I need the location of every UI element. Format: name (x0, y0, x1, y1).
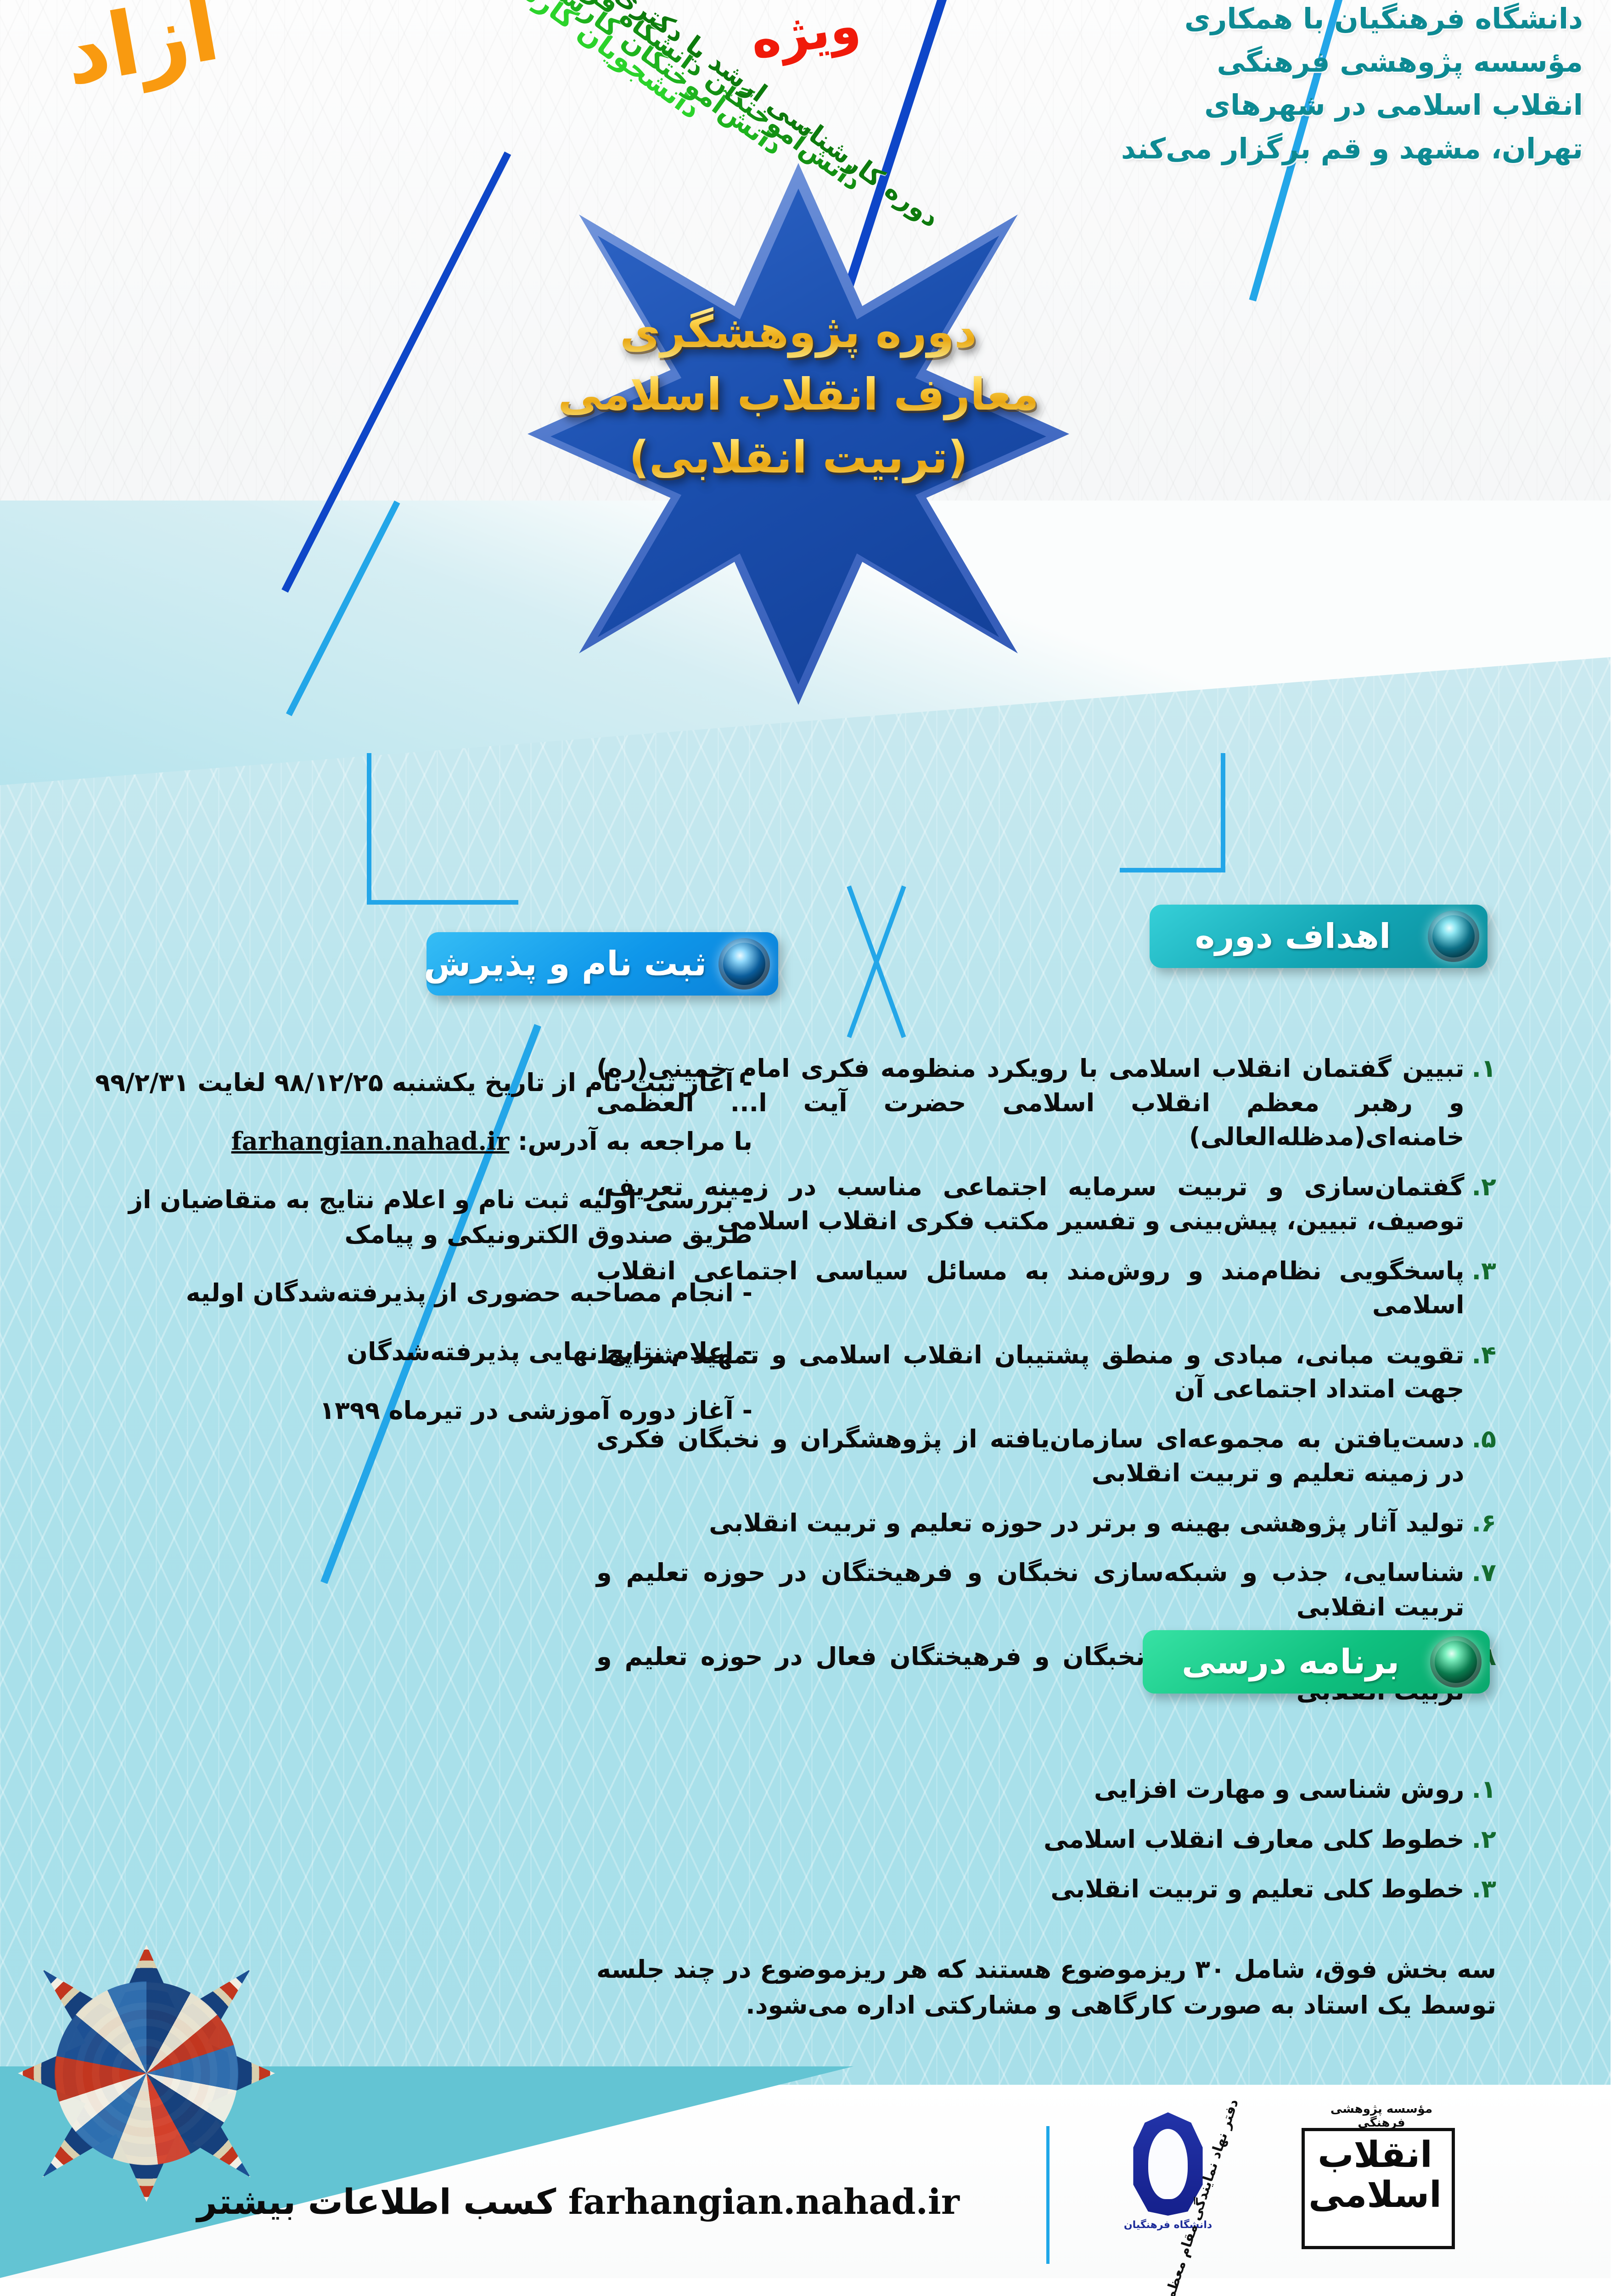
registration-url[interactable]: farhangian.nahad.ir (232, 1124, 510, 1159)
registration-item-2: با مراجعه به آدرس: farhangian.nahad.ir (55, 1124, 753, 1159)
course-title-line-2: معارف انقلاب اسلامی (556, 363, 1042, 426)
signup-knob-icon (719, 938, 770, 990)
ribbon-bracket-right-vertical (1221, 753, 1226, 872)
objectives-badge[interactable]: اهداف دوره (1150, 905, 1488, 968)
curriculum-number: ۱. (1472, 1773, 1497, 1807)
target-knob-icon (1428, 911, 1480, 962)
curriculum-text: روش شناسی و مهارت افزایی (1095, 1773, 1465, 1807)
course-title-line-3: (تربیت انقلابی) (556, 426, 1042, 489)
registration-item-3: - بررسی اولیه ثبت نام و اعلام نتایج به م… (55, 1182, 753, 1252)
registration-list: - آغاز ثبت نام از تاریخ یکشنبه ۹۸/۱۲/۲۵ … (55, 1065, 753, 1452)
institute-logo-top-caption: مؤسسه پژوهشی فرهنگی (1308, 2102, 1455, 2130)
curriculum-text: خطوط کلی تعلیم و تربیت انقلابی (1051, 1872, 1465, 1907)
registration-item-1: - آغاز ثبت نام از تاریخ یکشنبه ۹۸/۱۲/۲۵ … (55, 1065, 753, 1100)
curriculum-item-1: ۱. روش شناسی و مهارت افزایی (597, 1773, 1497, 1807)
registration-badge[interactable]: ثبت نام و پذیرش (427, 932, 779, 996)
footer-more-label: کسب اطلاعات بیشتر (197, 2181, 556, 2222)
objectives-badge-label: اهداف دوره (1158, 917, 1428, 956)
objective-number: ۳. (1472, 1254, 1497, 1289)
curriculum-number: ۳. (1472, 1872, 1497, 1907)
book-knob-icon (1431, 1636, 1482, 1688)
footer-divider (1047, 2126, 1050, 2264)
curriculum-badge[interactable]: برنامه درسی (1143, 1630, 1490, 1694)
footer-more-info: farhangian.nahad.ir کسب اطلاعات بیشتر (197, 2181, 1024, 2222)
objective-number: ۴. (1472, 1338, 1497, 1373)
objective-item-7: ۷. شناسایی، جذب و شبکه‌سازی نخبگان و فره… (597, 1556, 1497, 1624)
curriculum-item-3: ۳. خطوط کلی تعلیم و تربیت انقلابی (597, 1872, 1497, 1907)
header-line-2: مؤسسه پژوهشی فرهنگی (886, 40, 1583, 84)
objective-number: ۱. (1472, 1052, 1497, 1086)
curriculum-text: خطوط کلی معارف انقلاب اسلامی (1044, 1823, 1465, 1857)
persian-tile-medallion-core (55, 1981, 239, 2165)
header-line-3: انقلاب اسلامی در شهرهای (886, 84, 1583, 127)
course-title: دوره پژوهشگری معارف انقلاب اسلامی (تربیت… (556, 301, 1042, 489)
ribbon-bracket-right-horizontal (1120, 868, 1226, 872)
curriculum-badge-label: برنامه درسی (1151, 1642, 1431, 1682)
ribbon-bracket-left-vertical (367, 753, 372, 905)
ribbon-bracket-left-horizontal (367, 900, 519, 905)
registration-item-4: - انجام مصاحبه حضوری از پذیرفته‌شدگان او… (55, 1276, 753, 1311)
objective-number: ۶. (1472, 1506, 1497, 1541)
curriculum-number: ۲. (1472, 1823, 1497, 1857)
objective-text: تولید آثار پژوهشی بهینه و برتر در حوزه ت… (709, 1506, 1465, 1541)
objective-number: ۵. (1472, 1422, 1497, 1457)
registration-item-5: - اعلام نتایج نهایی پذیرفته‌شدگان (55, 1334, 753, 1369)
institute-logo-text: انقلاب اسلامی (1302, 2135, 1449, 2236)
registration-address-label: با مراجعه به آدرس: (518, 1127, 753, 1156)
poster-header: دانشگاه فرهنگیان با همکاری مؤسسه پژوهشی … (886, 0, 1583, 170)
objective-number: ۲. (1472, 1170, 1497, 1204)
course-title-line-1: دوره پژوهشگری (556, 301, 1042, 363)
course-title-star: دوره پژوهشگری معارف انقلاب اسلامی (تربیت… (528, 163, 1070, 765)
footer-url[interactable]: farhangian.nahad.ir (569, 2181, 960, 2222)
curriculum-note: سه بخش فوق، شامل ۳۰ ریزموضوع هستند که هر… (597, 1952, 1497, 2024)
registration-item-6: - آغاز دوره آموزشی در تیرماه ۱۳۹۹ (55, 1393, 753, 1428)
header-line-1: دانشگاه فرهنگیان با همکاری (886, 0, 1583, 40)
curriculum-item-2: ۲. خطوط کلی معارف انقلاب اسلامی (597, 1823, 1497, 1857)
objective-item-6: ۶. تولید آثار پژوهشی بهینه و برتر در حوز… (597, 1506, 1497, 1541)
objective-number: ۷. (1472, 1556, 1497, 1590)
institute-logo: مؤسسه پژوهشی فرهنگی انقلاب اسلامی (1285, 2108, 1469, 2268)
objective-text: شناسایی، جذب و شبکه‌سازی نخبگان و فرهیخت… (597, 1556, 1465, 1624)
curriculum-list: ۱. روش شناسی و مهارت افزایی ۲. خطوط کلی … (597, 1773, 1497, 1922)
registration-badge-label: ثبت نام و پذیرش (412, 944, 719, 984)
